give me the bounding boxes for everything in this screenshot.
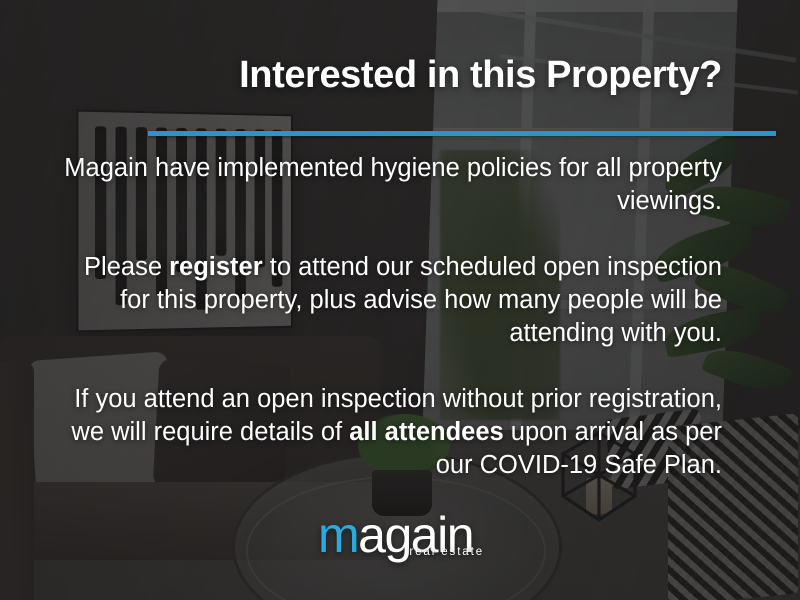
- logo-tagline: real estate: [409, 546, 484, 558]
- logo-mark-letter: m: [318, 507, 358, 563]
- property-viewing-notice-slide: Interested in this Property? Magain have…: [0, 0, 800, 600]
- paragraph-2-emphasis: register: [169, 253, 263, 281]
- paragraph-spacer-1: [60, 218, 722, 251]
- paragraph-spacer-2: [60, 350, 722, 383]
- paragraph-2-prefix: Please: [84, 253, 169, 281]
- paragraph-3-emphasis: all attendees: [349, 418, 503, 446]
- paragraph-register: Please register to attend our scheduled …: [60, 251, 722, 350]
- paragraph-1-text: Magain have implemented hygiene policies…: [64, 154, 722, 215]
- page-title: Interested in this Property?: [0, 54, 722, 97]
- divider-rule: [148, 131, 776, 136]
- notice-body: Magain have implemented hygiene policies…: [60, 152, 722, 482]
- paragraph-attendees: If you attend an open inspection without…: [60, 383, 722, 482]
- paragraph-hygiene-policies: Magain have implemented hygiene policies…: [60, 152, 722, 218]
- magain-real-estate-logo: magain real estate: [318, 510, 486, 570]
